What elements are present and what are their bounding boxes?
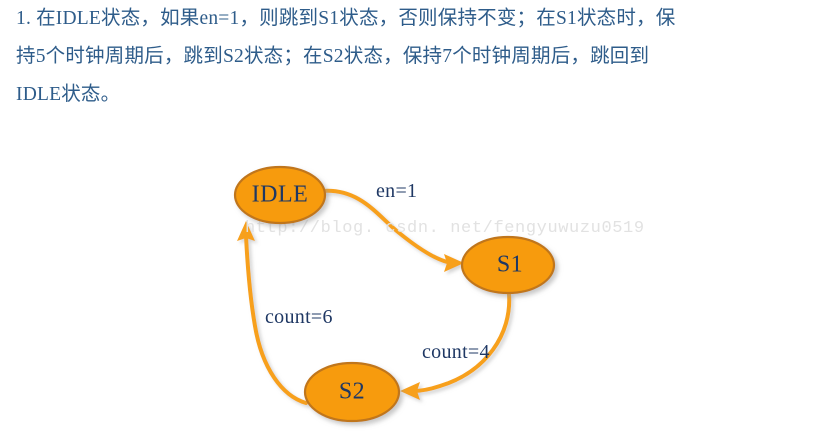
paragraph-line-3: IDLE状态。 bbox=[0, 76, 827, 114]
state-node-idle[interactable]: IDLE bbox=[235, 167, 325, 223]
state-node-idle-label: IDLE bbox=[252, 182, 309, 208]
edge-label-count-4: count=4 bbox=[422, 341, 490, 363]
state-node-s2[interactable]: S2 bbox=[305, 363, 399, 421]
state-node-s2-label: S2 bbox=[339, 379, 365, 405]
edge-s1-to-s2-arrowhead bbox=[400, 382, 420, 400]
paragraph-line-2: 持5个时钟周期后，跳到S2状态；在S2状态，保持7个时钟周期后，跳回到 bbox=[0, 38, 827, 76]
paragraph-block: 1. 在IDLE状态，如果en=1，则跳到S1状态，否则保持不变；在S1状态时，… bbox=[0, 0, 827, 114]
edge-label-en-1: en=1 bbox=[376, 180, 417, 202]
edge-label-count-6: count=6 bbox=[265, 306, 333, 328]
state-machine-diagram: http://blog. csdn. net/fengyuwuzu0519 ID… bbox=[0, 120, 827, 432]
paragraph-line-1: 1. 在IDLE状态，如果en=1，则跳到S1状态，否则保持不变；在S1状态时，… bbox=[0, 0, 827, 38]
state-node-s1[interactable]: S1 bbox=[462, 237, 554, 293]
watermark-text: http://blog. csdn. net/fengyuwuzu0519 bbox=[245, 219, 645, 238]
state-node-s1-label: S1 bbox=[497, 252, 523, 278]
